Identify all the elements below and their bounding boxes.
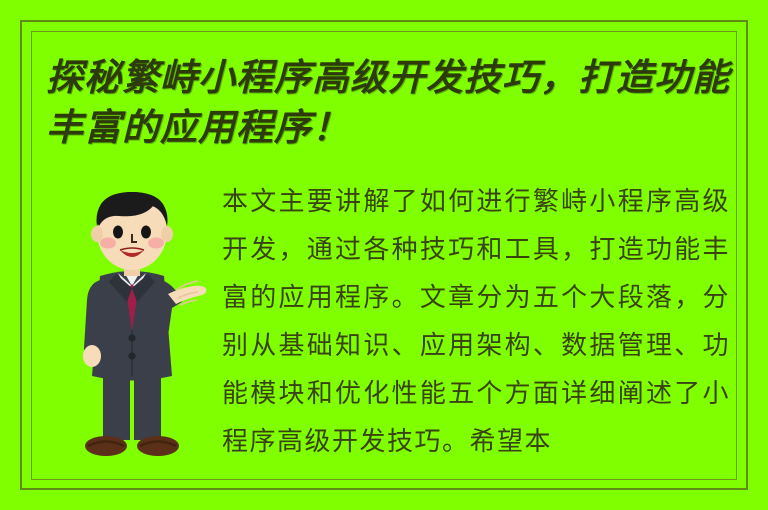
body-paragraph: 本文主要讲解了如何进行繁峙小程序高级开发，通过各种技巧和工具，打造功能丰富的应用… — [222, 178, 730, 466]
ear-right — [161, 226, 173, 242]
jacket-button-upper — [128, 334, 135, 341]
jacket-button-lower — [128, 352, 135, 359]
page-title: 探秘繁峙小程序高级开发技巧，打造功能丰富的应用程序！ — [46, 52, 736, 152]
blush-left — [100, 238, 116, 249]
shoe-left — [85, 436, 127, 456]
shoe-right — [137, 436, 179, 456]
arm-left — [84, 280, 104, 356]
businessman-illustration — [44, 180, 220, 480]
eye-right — [141, 226, 151, 239]
eye-left — [113, 226, 123, 239]
hand-left — [83, 345, 101, 367]
ear-left — [91, 226, 103, 242]
blush-right — [148, 238, 164, 249]
poster-canvas: 探秘繁峙小程序高级开发技巧，打造功能丰富的应用程序！ 本文主要讲解了如何进行繁峙… — [0, 0, 768, 510]
